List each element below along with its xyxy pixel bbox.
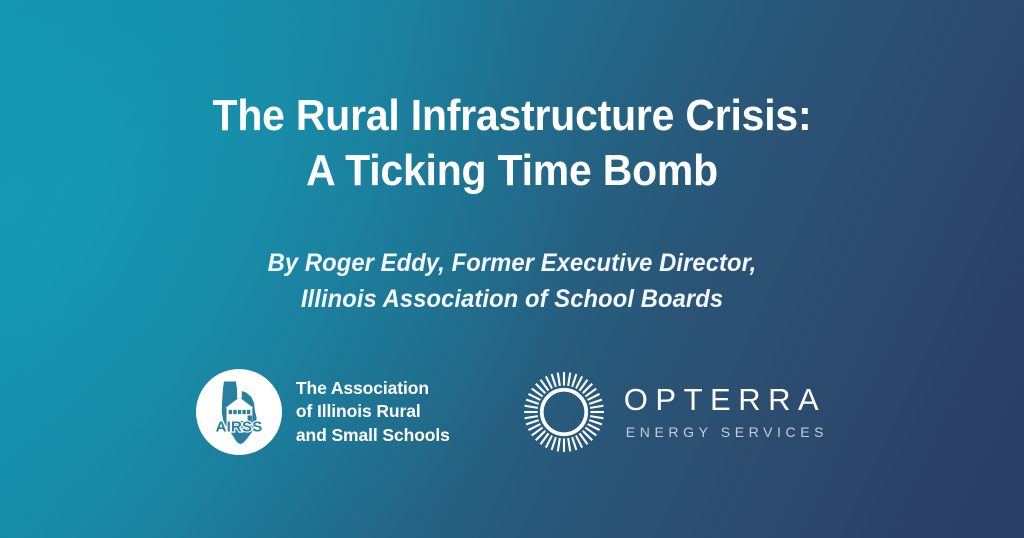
- byline-line-2: Illinois Association of School Boards: [26, 281, 999, 317]
- opterra-wordmark: OPTERRA: [624, 383, 828, 416]
- title-line-1: The Rural Infrastructure Crisis:: [36, 88, 988, 143]
- byline-line-1: By Roger Eddy, Former Executive Director…: [26, 245, 999, 281]
- slide-content: The Rural Infrastructure Crisis: A Ticki…: [0, 0, 1024, 538]
- sunburst-radial-icon: [522, 370, 606, 454]
- airss-text-line-1: The Association: [296, 377, 450, 400]
- slide-title: The Rural Infrastructure Crisis: A Ticki…: [0, 88, 1024, 199]
- airss-logo-lockup: AIRSS The Association of Illinois Rural …: [196, 369, 450, 455]
- opterra-logo-text: OPTERRA ENERGY SERVICES: [624, 383, 828, 440]
- opterra-logo-lockup: OPTERRA ENERGY SERVICES: [522, 370, 828, 454]
- illinois-schoolhouse-badge-icon: AIRSS: [196, 369, 282, 455]
- logo-row: AIRSS The Association of Illinois Rural …: [196, 369, 828, 455]
- airss-text-line-3: and Small Schools: [296, 424, 450, 447]
- opterra-tagline: ENERGY SERVICES: [626, 424, 828, 441]
- title-slide: The Rural Infrastructure Crisis: A Ticki…: [0, 0, 1024, 538]
- title-line-2: A Ticking Time Bomb: [36, 143, 988, 198]
- slide-byline: By Roger Eddy, Former Executive Director…: [0, 245, 1024, 317]
- airss-acronym-text: AIRSS: [215, 418, 262, 435]
- airss-text-line-2: of Illinois Rural: [296, 400, 450, 423]
- airss-logo-text: The Association of Illinois Rural and Sm…: [296, 377, 450, 447]
